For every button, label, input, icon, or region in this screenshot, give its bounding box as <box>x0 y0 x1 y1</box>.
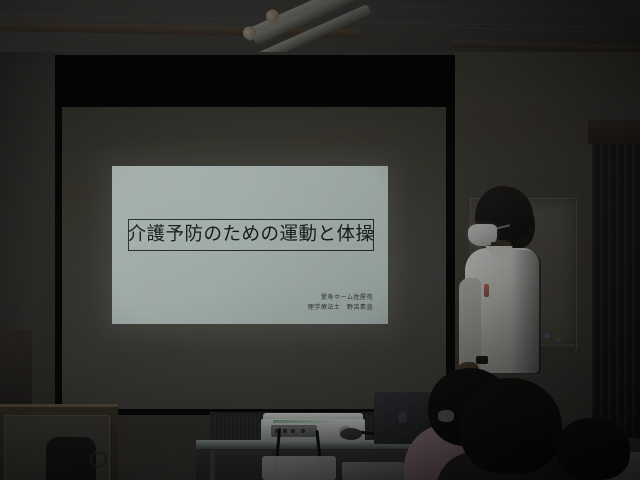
slide-title: 介護予防のための運動と体操 <box>128 226 375 245</box>
curtain-valance <box>588 120 640 144</box>
bag-handle <box>90 451 107 468</box>
bag <box>46 437 96 480</box>
projector-port <box>301 429 305 433</box>
side-table <box>0 330 32 410</box>
table-leg <box>210 450 215 480</box>
presenter-badge <box>484 284 489 297</box>
audience-head <box>556 418 630 480</box>
projector-label-strip <box>273 420 335 423</box>
window-curtain <box>592 138 640 438</box>
papers-on-table <box>342 462 404 480</box>
presenter-shirt-shadow <box>511 250 541 374</box>
audience-head <box>460 378 562 474</box>
slide-title-box: 介護予防のための運動と体操 <box>128 219 374 251</box>
projector-port <box>283 429 287 433</box>
projected-slide: 介護予防のための運動と体操 愛寿ホーム佐屋苑 理学療法士 野呂素直 <box>112 166 388 324</box>
audience-face-mask <box>438 410 454 422</box>
slide-credit-organization: 愛寿ホーム佐屋苑 <box>308 293 373 303</box>
presenter-wristwatch <box>476 356 488 364</box>
projector-port <box>291 429 295 433</box>
presenter <box>455 186 560 386</box>
laptop-logo-icon <box>398 412 407 423</box>
projection-screen-top-shadow <box>55 55 455 107</box>
slide-credits: 愛寿ホーム佐屋苑 理学療法士 野呂素直 <box>308 293 373 313</box>
papers-on-table <box>262 456 336 480</box>
cabinet <box>0 404 118 480</box>
mouse[interactable] <box>340 428 362 440</box>
slide-credit-presenter: 理学療法士 野呂素直 <box>308 303 373 313</box>
photo-scene: 介護予防のための運動と体操 愛寿ホーム佐屋苑 理学療法士 野呂素直 <box>0 0 640 480</box>
